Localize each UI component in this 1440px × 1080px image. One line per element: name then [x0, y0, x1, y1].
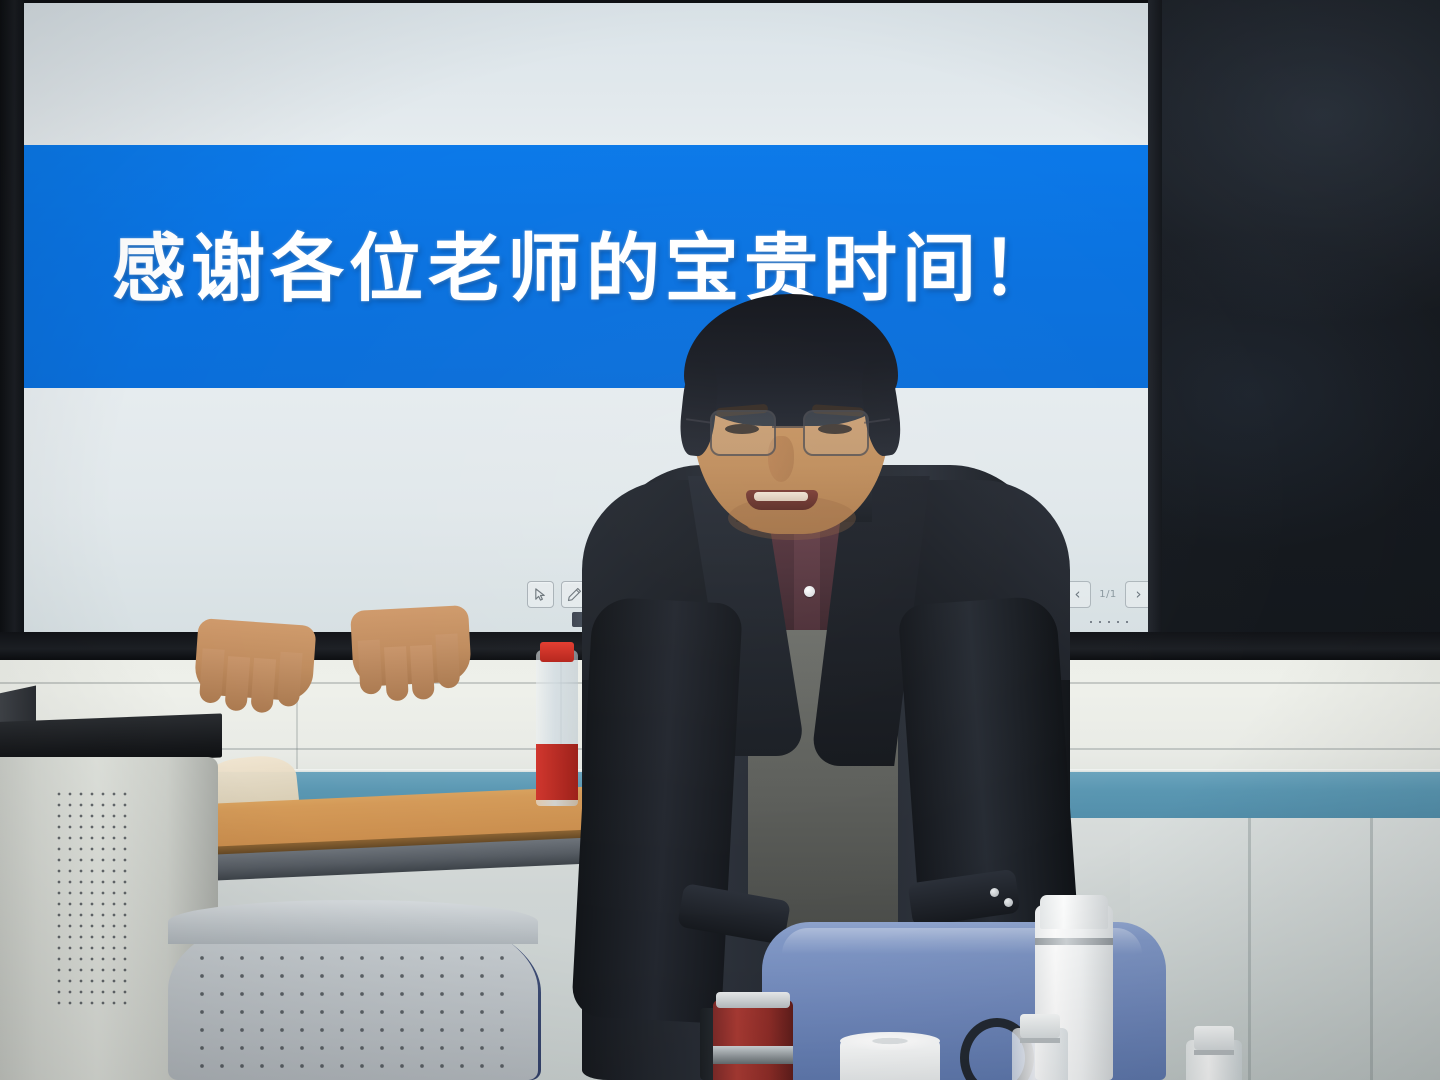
water-bottle-left-ring: [1020, 1038, 1060, 1043]
red-thermos: [713, 1000, 793, 1080]
hand-right: [350, 605, 472, 687]
eyeglasses-lens-left: [710, 410, 776, 456]
lower-wall-right: [1130, 818, 1440, 1080]
water-bottle-left-cap: [1020, 1014, 1060, 1038]
grey-chair-rim: [168, 900, 538, 944]
cuff-button: [1004, 898, 1013, 907]
cursor-icon: [533, 587, 548, 602]
eyeglasses-lens-right: [803, 410, 869, 456]
display-bezel-left: [0, 0, 24, 636]
teeth: [754, 492, 808, 501]
eyeglasses-bridge: [772, 426, 803, 428]
cuff-button: [990, 888, 999, 897]
grey-chair-perforations: [196, 952, 510, 1080]
lectern-speaker-grille: [55, 790, 130, 1005]
hand-left: [193, 618, 316, 702]
white-cup-rim: [840, 1032, 940, 1050]
white-thermos-ring: [1035, 938, 1113, 945]
shirt-button: [804, 586, 815, 597]
water-bottle-right-ring: [1194, 1050, 1234, 1055]
slide-upper-area: [24, 3, 1148, 145]
display-dark-area: [1148, 0, 1440, 636]
white-thermos-cap: [1040, 895, 1108, 929]
water-bottle-right-cap: [1194, 1026, 1234, 1050]
page-indicator: 1/1: [1097, 589, 1119, 600]
jacket-sleeve-left: [571, 596, 743, 1023]
red-thermos-band: [713, 1046, 793, 1064]
classroom-photo-scene: 感谢各位老师的宝贵时间！: [0, 0, 1440, 1080]
select-tool-button[interactable]: [527, 581, 554, 608]
red-thermos-cap: [716, 992, 790, 1008]
next-slide-button[interactable]: ›: [1125, 581, 1148, 608]
